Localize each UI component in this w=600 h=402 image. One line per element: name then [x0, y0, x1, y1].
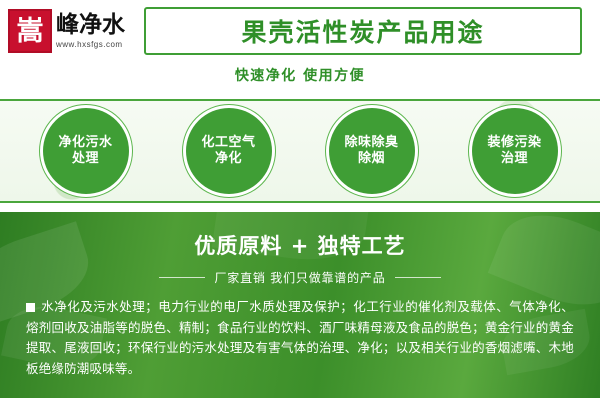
info-panel-content: 优质原料 + 独特工艺 厂家直销 我们只做靠谱的产品 水净化及污水处理；电力行业…	[0, 212, 600, 380]
product-banner: 嵩 峰净水 www.hxsfgs.com 果壳活性炭产品用途 快速净化 使用方便…	[0, 0, 600, 402]
feature-circle-4: 装修污染 治理	[472, 108, 558, 194]
feature-label-4: 装修污染 治理	[487, 135, 541, 168]
panel-subtitle: 厂家直销 我们只做靠谱的产品	[214, 269, 385, 286]
logo-text: 峰净水 www.hxsfgs.com	[56, 13, 125, 48]
panel-title: 优质原料 + 独特工艺	[26, 230, 574, 260]
subtitle: 快速净化 使用方便	[235, 68, 365, 84]
logo-badge-icon: 嵩	[8, 9, 52, 53]
panel-body-wrap: 水净化及污水处理；电力行业的电厂水质处理及保护；化工行业的催化剂及载体、气体净化…	[26, 297, 574, 380]
feature-circle-1: 净化污水 处理	[43, 108, 129, 194]
panel-body-text: 水净化及污水处理；电力行业的电厂水质处理及保护；化工行业的催化剂及载体、气体净化…	[26, 299, 574, 376]
logo-brand-url: www.hxsfgs.com	[56, 40, 125, 49]
feature-circle-2: 化工空气 净化	[186, 108, 272, 194]
bullet-square-icon	[26, 303, 35, 312]
page-title-box: 果壳活性炭产品用途	[144, 7, 582, 55]
feature-band: 净化污水 处理 化工空气 净化 除味除臭 除烟 装修污染 治理	[0, 99, 600, 203]
feature-label-2: 化工空气 净化	[201, 135, 255, 168]
header: 嵩 峰净水 www.hxsfgs.com 果壳活性炭产品用途	[0, 0, 600, 62]
divider-right	[395, 277, 441, 278]
divider-left	[159, 277, 205, 278]
page-title: 果壳活性炭产品用途	[241, 13, 484, 49]
logo-brand-cn: 峰净水	[56, 13, 125, 37]
feature-label-3: 除味除臭 除烟	[344, 135, 398, 168]
subtitle-row: 快速净化 使用方便	[0, 65, 600, 85]
info-panel: 优质原料 + 独特工艺 厂家直销 我们只做靠谱的产品 水净化及污水处理；电力行业…	[0, 212, 600, 398]
panel-subtitle-row: 厂家直销 我们只做靠谱的产品	[26, 269, 574, 286]
feature-label-1: 净化污水 处理	[58, 135, 112, 168]
feature-circle-3: 除味除臭 除烟	[329, 108, 415, 194]
brand-logo: 嵩 峰净水 www.hxsfgs.com	[8, 8, 126, 54]
